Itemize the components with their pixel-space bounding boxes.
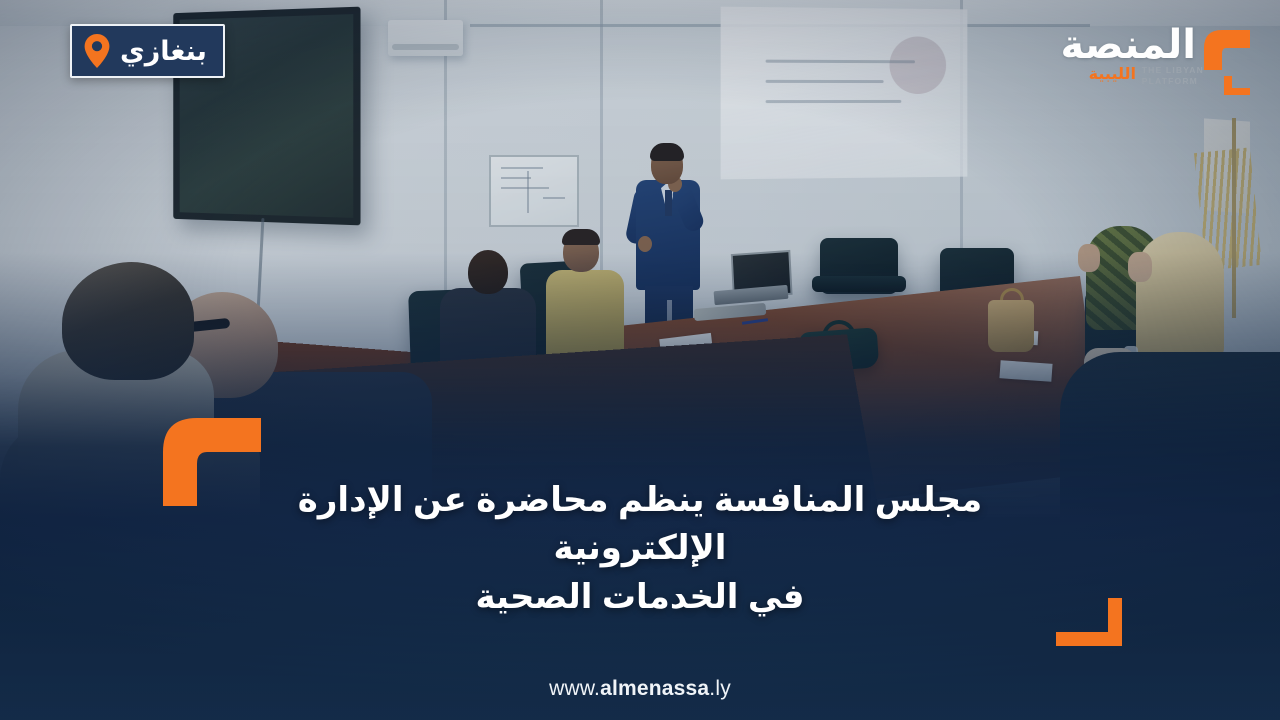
location-badge-label: بنغازي — [120, 38, 207, 65]
headline-line-1: مجلس المنافسة ينظم محاضرة عن الإدارة الإ… — [0, 476, 1280, 573]
news-card: بنغازي المنصة الليبية THE LIBYAN PLATFOR… — [0, 0, 1280, 720]
logo-hook-mark — [1198, 24, 1258, 98]
location-badge[interactable]: بنغازي — [70, 24, 225, 78]
site-logo[interactable]: المنصة الليبية THE LIBYAN PLATFORM — [1046, 18, 1258, 104]
site-url[interactable]: www.almenassa.ly — [549, 677, 731, 701]
url-suffix: .ly — [709, 677, 731, 700]
footer-bar: www.almenassa.ly — [0, 658, 1280, 720]
logo-sub-english: THE LIBYAN PLATFORM — [1142, 65, 1204, 88]
map-pin-icon — [84, 34, 110, 68]
headline-line-2: في الخدمات الصحية — [0, 573, 1280, 621]
url-prefix: www. — [549, 677, 600, 700]
logo-sub-english-line1: THE LIBYAN — [1142, 65, 1204, 75]
headline: مجلس المنافسة ينظم محاضرة عن الإدارة الإ… — [0, 476, 1280, 621]
logo-sub-english-line2: PLATFORM — [1142, 76, 1198, 86]
logo-arabic-wordmark: المنصة — [1060, 22, 1196, 68]
logo-arabic-text: المنصة — [1060, 23, 1196, 67]
url-name: almenassa — [600, 677, 709, 700]
logo-sub-arabic: الليبية — [1089, 64, 1136, 84]
